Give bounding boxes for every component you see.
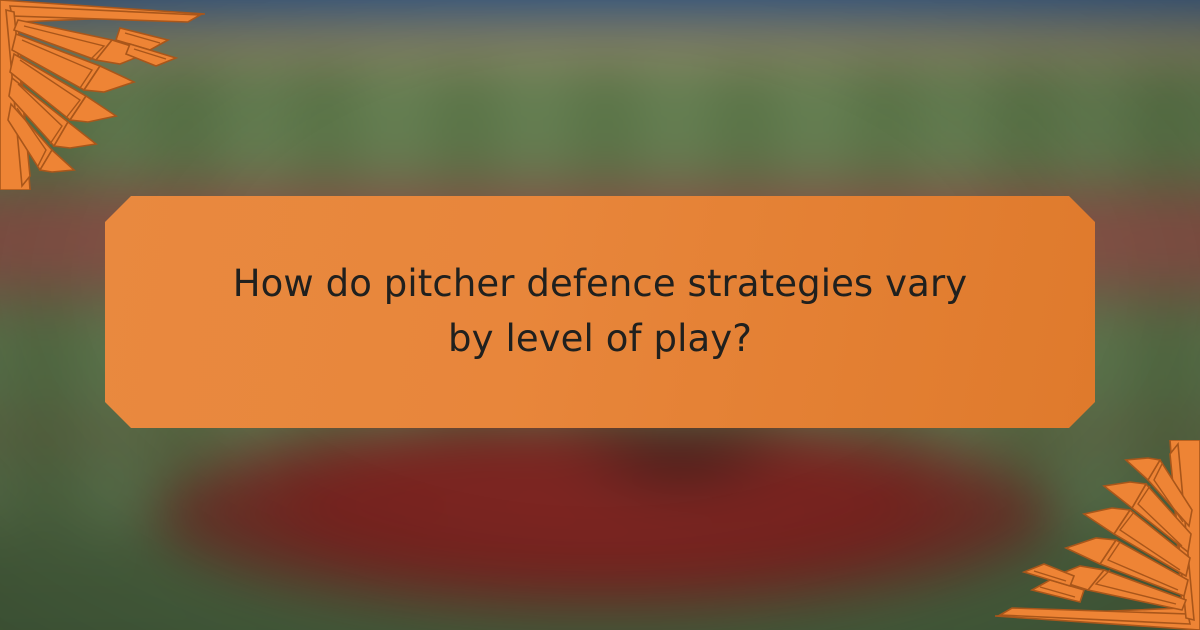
corner-ornament-bottom-right: [995, 440, 1200, 630]
question-title: How do pitcher defence strategies vary b…: [210, 257, 990, 367]
question-card: How do pitcher defence strategies vary b…: [105, 196, 1095, 428]
corner-ornament-top-left: [0, 0, 205, 190]
question-card-graphic: How do pitcher defence strategies vary b…: [0, 0, 1200, 630]
